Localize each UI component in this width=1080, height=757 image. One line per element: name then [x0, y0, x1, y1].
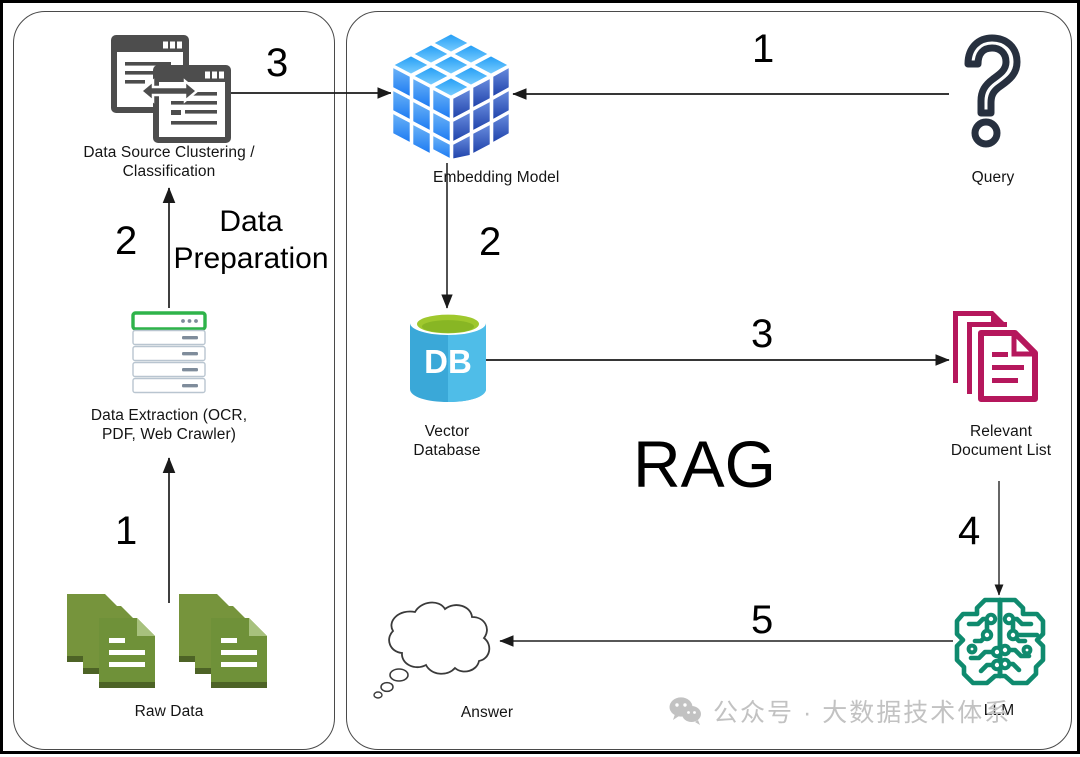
watermark-text: 公众号 · 大数据技术体系	[713, 693, 1011, 729]
green-document-stack-icon	[61, 588, 277, 694]
step-number-3-cross: 3	[266, 43, 288, 83]
label-line-2: Database	[413, 442, 480, 459]
label-line-2: Document List	[951, 442, 1051, 459]
step-number-4-right: 4	[958, 511, 980, 551]
database-cylinder-icon: DB	[406, 309, 490, 405]
label-line-1: Data Extraction (OCR,	[91, 407, 247, 424]
step-number-1-right: 1	[752, 29, 774, 69]
step-number-5-right: 5	[751, 600, 773, 640]
label-answer: Answer	[427, 703, 547, 722]
question-mark-icon	[958, 33, 1028, 149]
title-rag: RAG	[633, 431, 776, 497]
diagram-canvas: Data Source Clustering / Classification …	[0, 0, 1080, 754]
server-rows-icon	[131, 311, 207, 401]
label-line-1: Data Source Clustering /	[83, 144, 254, 161]
label-data-extraction: Data Extraction (OCR, PDF, Web Crawler)	[49, 406, 289, 444]
label-line-1: Vector	[425, 423, 470, 440]
label-raw-data: Raw Data	[69, 702, 269, 721]
watermark: 公众号 · 大数据技术体系	[669, 693, 1011, 729]
step-number-3-right: 3	[751, 314, 773, 354]
label-line-2: PDF, Web Crawler)	[102, 426, 236, 443]
label-relevant-document-list: Relevant Document List	[916, 422, 1080, 460]
step-number-2-right: 2	[479, 222, 501, 262]
label-embedding-model: Embedding Model	[433, 168, 703, 187]
database-badge-text: DB	[424, 343, 472, 380]
step-number-1-left: 1	[115, 511, 137, 551]
thought-cloud-icon	[371, 595, 511, 705]
title-data-preparation: Data Preparation	[171, 203, 331, 277]
wechat-icon	[669, 696, 703, 726]
brain-circuit-icon	[951, 594, 1049, 690]
label-vector-database: Vector Database	[372, 422, 522, 460]
label-line-2: Classification	[123, 163, 216, 180]
step-number-2-left: 2	[115, 221, 137, 261]
label-query: Query	[918, 168, 1068, 187]
title-line-2: Preparation	[173, 242, 328, 275]
title-line-1: Data	[219, 205, 282, 238]
crimson-document-stack-icon	[948, 306, 1040, 406]
two-windows-exchange-icon	[111, 35, 231, 143]
blue-cube-icon	[391, 27, 511, 163]
label-data-source-clustering: Data Source Clustering / Classification	[49, 143, 289, 181]
label-line-1: Relevant	[970, 423, 1032, 440]
